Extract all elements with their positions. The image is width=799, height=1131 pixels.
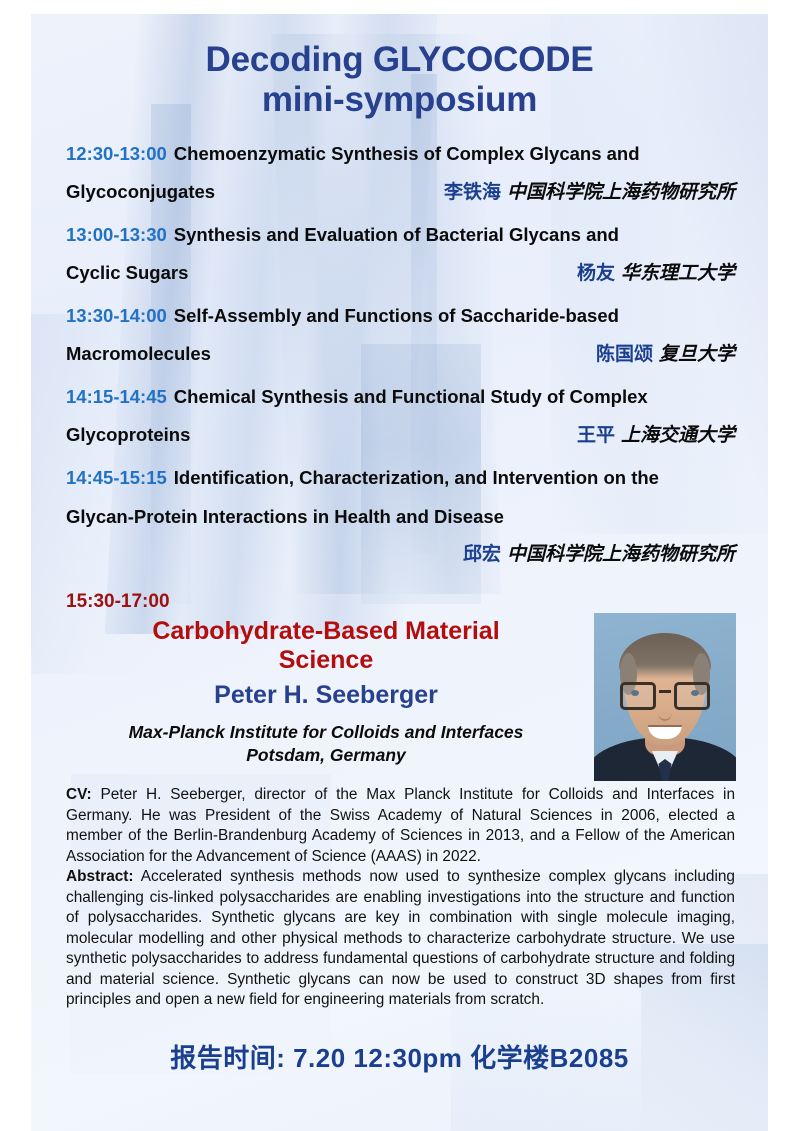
keynote-talk-title-line-2: Science xyxy=(66,646,586,675)
schedule-title-line: 13:00-13:30Synthesis and Evaluation of B… xyxy=(66,215,735,254)
schedule-item: 12:30-13:00Chemoenzymatic Synthesis of C… xyxy=(66,134,735,213)
abstract-label: Abstract: xyxy=(66,868,134,885)
schedule-attrib-row: Macromolecules 陈国颂复旦大学 xyxy=(66,335,735,375)
keynote-talk-title-line-1: Carbohydrate-Based Material xyxy=(66,617,586,646)
schedule-title-head: Chemoenzymatic Synthesis of Complex Glyc… xyxy=(174,143,640,164)
schedule-title-tail: Glycan-Protein Interactions in Health an… xyxy=(66,506,504,527)
schedule-attribution: 杨友华东理工大学 xyxy=(577,255,735,294)
keynote-block: 15:30-17:00 Carbohydrate-Based Material … xyxy=(31,589,768,779)
schedule-affiliation: 中国科学院上海药物研究所 xyxy=(507,544,735,565)
schedule-title-tail: Glycoproteins xyxy=(66,416,190,454)
schedule-affiliation: 上海交通大学 xyxy=(621,425,735,446)
abstract-text: Accelerated synthesis methods now used t… xyxy=(66,868,735,1008)
schedule-title-head: Self-Assembly and Functions of Saccharid… xyxy=(174,305,619,326)
abstract-paragraph: Abstract: Accelerated synthesis methods … xyxy=(66,867,735,1011)
schedule-speaker: 李铁海 xyxy=(444,182,501,203)
schedule-affiliation: 华东理工大学 xyxy=(621,263,735,284)
schedule-title-head: Identification, Characterization, and In… xyxy=(174,467,659,488)
poster-canvas: Decoding GLYCOCODE mini-symposium 12:30-… xyxy=(31,14,768,1131)
schedule-title-line: 14:45-15:15Identification, Characterizat… xyxy=(66,458,735,497)
schedule-title-line: 12:30-13:00Chemoenzymatic Synthesis of C… xyxy=(66,134,735,173)
schedule-title-line: 13:30-14:00Self-Assembly and Functions o… xyxy=(66,296,735,335)
schedule-title-tail: Glycoconjugates xyxy=(66,173,215,211)
keynote-time: 15:30-17:00 xyxy=(66,589,735,615)
schedule-speaker: 王平 xyxy=(577,425,615,446)
schedule-attribution: 王平上海交通大学 xyxy=(577,417,735,456)
schedule-attribution: 邱宏中国科学院上海药物研究所 xyxy=(66,536,735,575)
schedule-attrib-row: Glycoproteins 王平上海交通大学 xyxy=(66,416,735,456)
schedule-attribution: 李铁海中国科学院上海药物研究所 xyxy=(444,174,735,213)
title-line-2: mini-symposium xyxy=(31,80,768,120)
schedule-time: 14:15-14:45 xyxy=(66,386,167,407)
schedule-title-head: Chemical Synthesis and Functional Study … xyxy=(174,386,648,407)
schedule-time: 13:30-14:00 xyxy=(66,305,167,326)
portrait-glasses-left xyxy=(620,682,656,710)
portrait-glasses-right xyxy=(674,682,710,710)
schedule-title-tail: Macromolecules xyxy=(66,335,211,373)
keynote-center-column: Carbohydrate-Based Material Science Pete… xyxy=(66,617,586,767)
footer-block: 报告时间: 7.20 12:30pm 化学楼B2085 xyxy=(31,1038,768,1075)
schedule-attribution: 陈国颂复旦大学 xyxy=(596,336,735,375)
poster-title: Decoding GLYCOCODE mini-symposium xyxy=(31,14,768,120)
cv-paragraph: CV: Peter H. Seeberger, director of the … xyxy=(66,785,735,867)
event-time-location: 报告时间: 7.20 12:30pm 化学楼B2085 xyxy=(170,1043,629,1073)
schedule-affiliation: 中国科学院上海药物研究所 xyxy=(507,182,735,203)
schedule-time: 13:00-13:30 xyxy=(66,224,167,245)
schedule-attrib-row: Cyclic Sugars 杨友华东理工大学 xyxy=(66,254,735,294)
keynote-talk-title: Carbohydrate-Based Material Science xyxy=(66,617,586,675)
schedule-speaker: 杨友 xyxy=(577,263,615,284)
keynote-speaker-name: Peter H. Seeberger xyxy=(66,678,586,712)
keynote-affiliation-line-2: Potsdam, Germany xyxy=(66,744,586,767)
schedule-time: 12:30-13:00 xyxy=(66,143,167,164)
title-line-1: Decoding GLYCOCODE xyxy=(31,40,768,80)
schedule-list: 12:30-13:00Chemoenzymatic Synthesis of C… xyxy=(31,134,768,575)
cv-text: Peter H. Seeberger, director of the Max … xyxy=(66,786,735,865)
schedule-item: 13:00-13:30Synthesis and Evaluation of B… xyxy=(66,215,735,294)
schedule-title-tail-line: Glycan-Protein Interactions in Health an… xyxy=(66,497,735,536)
schedule-time: 14:45-15:15 xyxy=(66,467,167,488)
keynote-affiliation: Max-Planck Institute for Colloids and In… xyxy=(66,721,586,767)
schedule-item: 14:15-14:45Chemical Synthesis and Functi… xyxy=(66,377,735,456)
schedule-item: 13:30-14:00Self-Assembly and Functions o… xyxy=(66,296,735,375)
speaker-portrait-photo xyxy=(594,613,736,781)
schedule-affiliation: 复旦大学 xyxy=(659,344,735,365)
schedule-title-tail: Cyclic Sugars xyxy=(66,254,188,292)
schedule-title-head: Synthesis and Evaluation of Bacterial Gl… xyxy=(174,224,619,245)
schedule-speaker: 陈国颂 xyxy=(596,344,653,365)
keynote-affiliation-line-1: Max-Planck Institute for Colloids and In… xyxy=(66,721,586,744)
cv-label: CV: xyxy=(66,786,92,803)
body-text-block: CV: Peter H. Seeberger, director of the … xyxy=(31,785,768,1011)
portrait-glasses-bridge xyxy=(659,690,671,693)
schedule-item: 14:45-15:15Identification, Characterizat… xyxy=(66,458,735,575)
portrait-nose xyxy=(658,705,672,721)
schedule-speaker: 邱宏 xyxy=(463,544,501,565)
schedule-title-line: 14:15-14:45Chemical Synthesis and Functi… xyxy=(66,377,735,416)
schedule-attrib-row: Glycoconjugates 李铁海中国科学院上海药物研究所 xyxy=(66,173,735,213)
